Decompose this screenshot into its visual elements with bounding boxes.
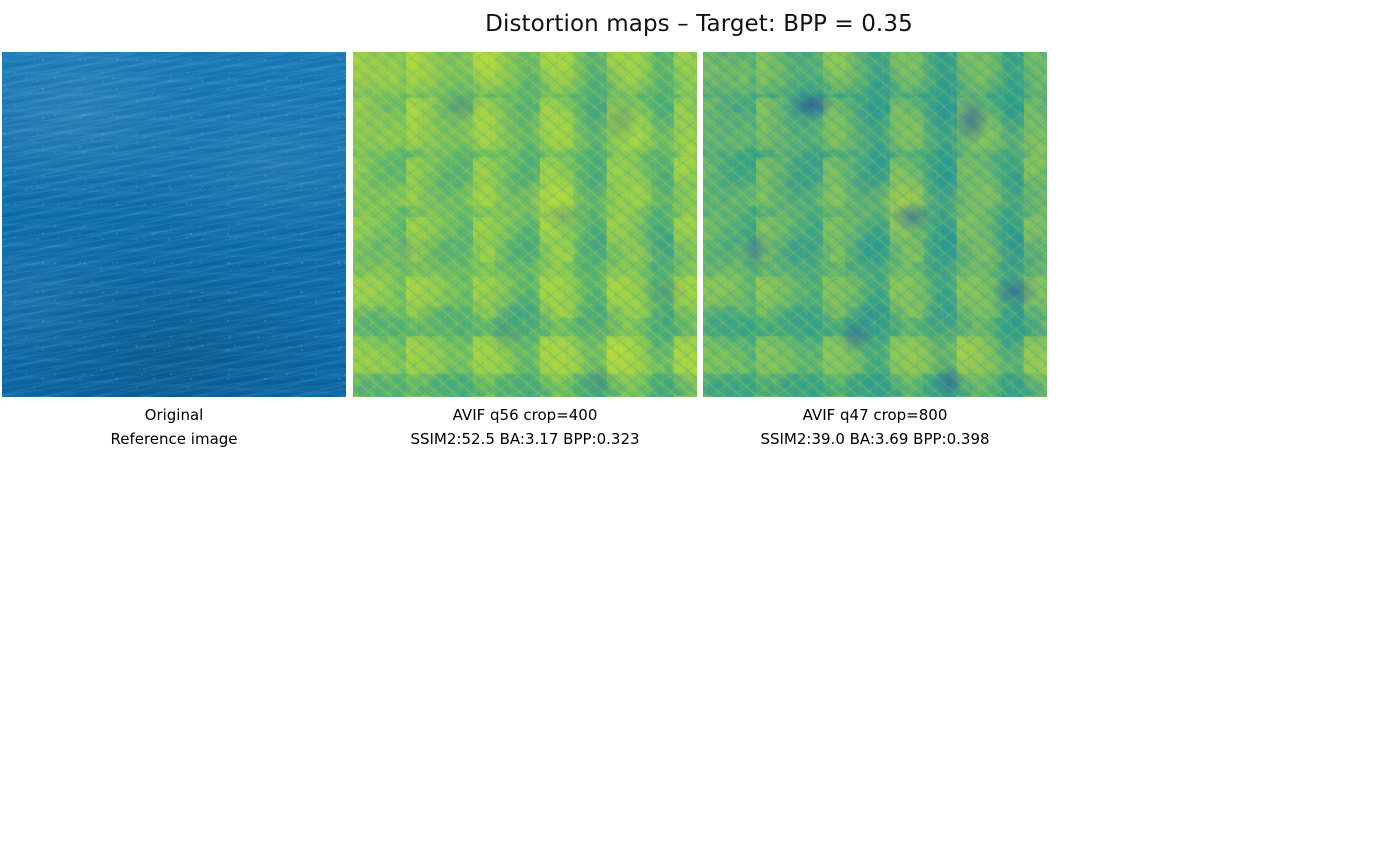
figure-title: Distortion maps – Target: BPP = 0.35 — [0, 11, 1400, 37]
heatmap-teal-wash-q47 — [703, 52, 1047, 397]
panel-row: Original Reference image AVIF q56 crop=4… — [2, 52, 1048, 397]
panel-avif-q47[interactable]: AVIF q47 crop=800 SSIM2:39.0 BA:3.69 BPP… — [703, 52, 1047, 397]
figure-title-text: Distortion maps – Target: BPP = 0.35 — [485, 11, 913, 37]
heatmap-yellow-wash-q56 — [353, 52, 697, 397]
panel-avif-q47-caption-line2: SSIM2:39.0 BA:3.69 BPP:0.398 — [663, 427, 1087, 451]
heatmap-base-q56 — [353, 52, 697, 397]
panel-avif-q47-caption: AVIF q47 crop=800 SSIM2:39.0 BA:3.69 BPP… — [663, 403, 1087, 451]
distortion-maps-figure: Distortion maps – Target: BPP = 0.35 Ori… — [0, 0, 1400, 868]
heatmap-base-q47 — [703, 52, 1047, 397]
panel-avif-q47-caption-line1: AVIF q47 crop=800 — [663, 403, 1087, 427]
ocean-speckle-texture — [2, 52, 346, 397]
avif-q56-distortion-map — [353, 52, 697, 397]
panel-original[interactable]: Original Reference image — [2, 52, 346, 397]
avif-q47-distortion-map — [703, 52, 1047, 397]
original-image — [2, 52, 346, 397]
panel-avif-q56[interactable]: AVIF q56 crop=400 SSIM2:52.5 BA:3.17 BPP… — [353, 52, 697, 397]
